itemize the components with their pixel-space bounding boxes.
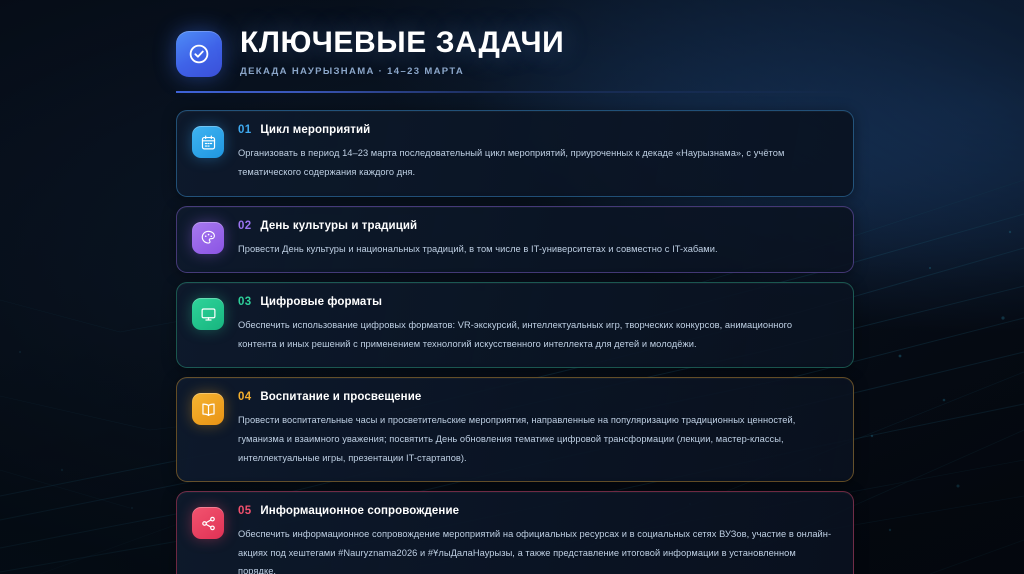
task-title: Информационное сопровождение: [260, 505, 459, 517]
task-card-body: 05 Информационное сопровождение Обеспечи…: [238, 505, 833, 574]
task-description: Обеспечить использование цифровых формат…: [238, 316, 833, 353]
task-card[interactable]: 05 Информационное сопровождение Обеспечи…: [176, 491, 854, 574]
task-card-header: 01 Цикл мероприятий: [238, 124, 833, 136]
task-title: Цифровые форматы: [260, 296, 382, 308]
page-title: КЛЮЧЕВЫЕ ЗАДАЧИ: [240, 27, 564, 59]
task-number: 01: [238, 124, 251, 136]
task-number: 03: [238, 296, 251, 308]
slide-header: КЛЮЧЕВЫЕ ЗАДАЧИ ДЕКАДА НАУРЫЗНАМА · 14–2…: [176, 26, 854, 77]
task-card-body: 01 Цикл мероприятий Организовать в перио…: [238, 124, 833, 181]
task-card-header: 02 День культуры и традиций: [238, 220, 833, 232]
task-number: 05: [238, 505, 251, 517]
task-card-header: 03 Цифровые форматы: [238, 296, 833, 308]
task-title: День культуры и традиций: [260, 220, 417, 232]
task-card-body: 03 Цифровые форматы Обеспечить использов…: [238, 296, 833, 353]
task-card-list: 01 Цикл мероприятий Организовать в перио…: [176, 110, 854, 574]
monitor-icon: [192, 298, 224, 330]
task-description: Провести День культуры и национальных тр…: [238, 240, 833, 259]
task-card-body: 02 День культуры и традиций Провести Ден…: [238, 220, 833, 259]
calendar-icon: [192, 126, 224, 158]
share-icon: [192, 507, 224, 539]
header-text-block: КЛЮЧЕВЫЕ ЗАДАЧИ ДЕКАДА НАУРЫЗНАМА · 14–2…: [240, 26, 564, 77]
task-title: Воспитание и просвещение: [260, 391, 421, 403]
task-card[interactable]: 01 Цикл мероприятий Организовать в перио…: [176, 110, 854, 196]
task-card-header: 04 Воспитание и просвещение: [238, 391, 833, 403]
book-open-icon: [192, 393, 224, 425]
page-subtitle: ДЕКАДА НАУРЫЗНАМА · 14–23 МАРТА: [240, 66, 564, 77]
palette-icon: [192, 222, 224, 254]
task-card[interactable]: 02 День культуры и традиций Провести Ден…: [176, 206, 854, 274]
task-card[interactable]: 03 Цифровые форматы Обеспечить использов…: [176, 282, 854, 368]
header-divider: [176, 91, 854, 93]
task-description: Обеспечить информационное сопровождение …: [238, 525, 833, 574]
slide-root: КЛЮЧЕВЫЕ ЗАДАЧИ ДЕКАДА НАУРЫЗНАМА · 14–2…: [0, 0, 1024, 574]
task-card-body: 04 Воспитание и просвещение Провести вос…: [238, 391, 833, 467]
task-card[interactable]: 04 Воспитание и просвещение Провести вос…: [176, 377, 854, 482]
task-number: 04: [238, 391, 251, 403]
task-description: Организовать в период 14–23 марта послед…: [238, 144, 833, 181]
task-card-header: 05 Информационное сопровождение: [238, 505, 833, 517]
task-title: Цикл мероприятий: [260, 124, 370, 136]
task-number: 02: [238, 220, 251, 232]
check-circle-icon: [176, 31, 222, 77]
slide-content: КЛЮЧЕВЫЕ ЗАДАЧИ ДЕКАДА НАУРЫЗНАМА · 14–2…: [0, 0, 1024, 574]
task-description: Провести воспитательные часы и просветит…: [238, 411, 833, 467]
